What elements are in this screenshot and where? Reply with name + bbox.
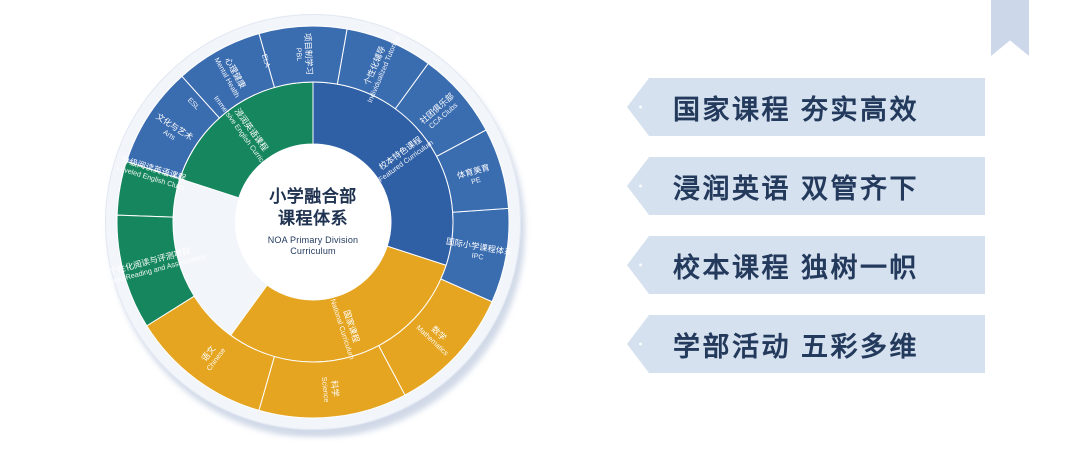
banner-bullet-icon [639, 106, 642, 109]
banner-item-2[interactable]: 校本课程 独树一帜 [627, 236, 985, 294]
center-title-cn: 小学融合部 [269, 186, 357, 208]
bookmark-icon [991, 0, 1029, 56]
bottom-fade [0, 435, 1080, 451]
poster-root: 国家课程National Curriculum浸润英语课程Immersive E… [0, 0, 1080, 451]
banner-item-3[interactable]: 学部活动 五彩多维 [627, 315, 985, 373]
center-hub: 小学融合部 课程体系 NOA Primary Division Curricul… [235, 144, 391, 300]
banner-label-0: 国家课程 夯实高效 [673, 88, 919, 127]
banner-item-0[interactable]: 国家课程 夯实高效 [627, 78, 985, 136]
banner-label-3: 学部活动 五彩多维 [673, 325, 919, 364]
banner-item-1[interactable]: 浸润英语 双管齐下 [627, 157, 985, 215]
banner-label-2: 校本课程 独树一帜 [673, 246, 919, 285]
banner-bullet-icon [639, 264, 642, 267]
banner-label-1: 浸润英语 双管齐下 [673, 167, 919, 206]
center-title-en2: Curriculum [268, 246, 359, 258]
center-title-en: NOA Primary Division [268, 235, 359, 247]
banner-list: 国家课程 夯实高效 浸润英语 双管齐下 校本课程 独树一帜 学部活动 五彩多维 [627, 78, 985, 373]
svg-text:PBL: PBL [294, 47, 304, 61]
banner-bullet-icon [639, 343, 642, 346]
center-title-cn2: 课程体系 [269, 208, 357, 230]
banner-bullet-icon [639, 185, 642, 188]
curriculum-sunburst-chart: 国家课程National Curriculum浸润英语课程Immersive E… [105, 14, 529, 438]
